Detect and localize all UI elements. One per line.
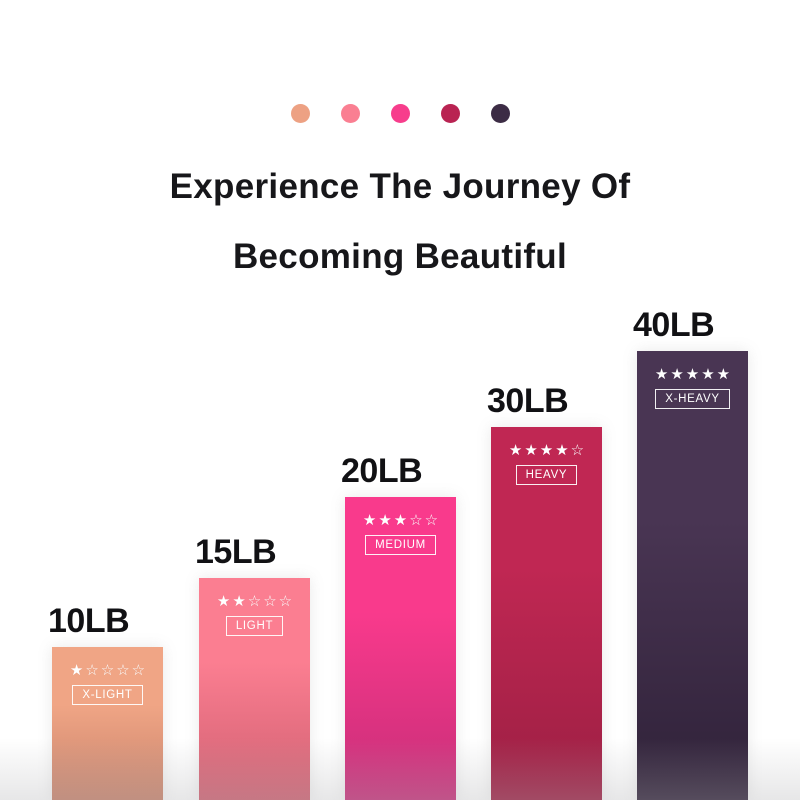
bar-40lb-strength-badge: X-HEAVY xyxy=(655,389,730,409)
bar-30lb-rating-stars: ★★★★☆ xyxy=(509,443,584,458)
star-filled-icon: ★ xyxy=(717,367,730,382)
star-empty-icon: ☆ xyxy=(248,594,261,609)
bar-10lb-strength-badge: X-LIGHT xyxy=(72,685,142,705)
bar-30lb-fill: ★★★★☆HEAVY xyxy=(491,427,602,800)
star-filled-icon: ★ xyxy=(540,443,553,458)
star-empty-icon: ☆ xyxy=(571,443,584,458)
bar-40lb[interactable]: 40LB★★★★★X-HEAVY xyxy=(637,351,748,800)
star-filled-icon: ★ xyxy=(232,594,245,609)
star-empty-icon: ☆ xyxy=(101,663,114,678)
bar-20lb-weight-label: 20LB xyxy=(341,452,422,497)
star-filled-icon: ★ xyxy=(394,513,407,528)
bar-30lb[interactable]: 30LB★★★★☆HEAVY xyxy=(491,427,602,800)
bar-40lb-weight-label: 40LB xyxy=(633,306,714,351)
bar-40lb-info: ★★★★★X-HEAVY xyxy=(637,367,748,409)
star-empty-icon: ☆ xyxy=(279,594,292,609)
star-filled-icon: ★ xyxy=(555,443,568,458)
star-filled-icon: ★ xyxy=(670,367,683,382)
star-empty-icon: ☆ xyxy=(116,663,129,678)
star-empty-icon: ☆ xyxy=(132,663,145,678)
star-empty-icon: ☆ xyxy=(85,663,98,678)
bar-30lb-weight-label: 30LB xyxy=(487,382,568,427)
bar-15lb-fill: ★★☆☆☆LIGHT xyxy=(199,578,310,800)
bar-20lb-info: ★★★☆☆MEDIUM xyxy=(345,513,456,555)
bar-20lb-strength-badge: MEDIUM xyxy=(365,535,436,555)
bar-10lb-fill: ★☆☆☆☆X-LIGHT xyxy=(52,647,163,800)
star-filled-icon: ★ xyxy=(363,513,376,528)
star-empty-icon: ☆ xyxy=(425,513,438,528)
star-filled-icon: ★ xyxy=(524,443,537,458)
star-filled-icon: ★ xyxy=(217,594,230,609)
star-filled-icon: ★ xyxy=(655,367,668,382)
bar-15lb-strength-badge: LIGHT xyxy=(226,616,283,636)
star-filled-icon: ★ xyxy=(686,367,699,382)
bar-15lb-info: ★★☆☆☆LIGHT xyxy=(199,594,310,636)
star-empty-icon: ☆ xyxy=(263,594,276,609)
star-filled-icon: ★ xyxy=(701,367,714,382)
bar-40lb-fill: ★★★★★X-HEAVY xyxy=(637,351,748,800)
star-filled-icon: ★ xyxy=(70,663,83,678)
star-filled-icon: ★ xyxy=(509,443,522,458)
bar-20lb-rating-stars: ★★★☆☆ xyxy=(363,513,438,528)
star-filled-icon: ★ xyxy=(378,513,391,528)
bar-10lb[interactable]: 10LB★☆☆☆☆X-LIGHT xyxy=(52,647,163,800)
bar-15lb[interactable]: 15LB★★☆☆☆LIGHT xyxy=(199,578,310,800)
bar-20lb-fill: ★★★☆☆MEDIUM xyxy=(345,497,456,800)
bar-15lb-weight-label: 15LB xyxy=(195,533,276,578)
promo-banner: Experience The Journey Of Becoming Beaut… xyxy=(0,0,800,800)
bar-20lb[interactable]: 20LB★★★☆☆MEDIUM xyxy=(345,497,456,800)
star-empty-icon: ☆ xyxy=(409,513,422,528)
resistance-band-bar-chart: 10LB★☆☆☆☆X-LIGHT15LB★★☆☆☆LIGHT20LB★★★☆☆M… xyxy=(0,0,800,800)
bar-10lb-rating-stars: ★☆☆☆☆ xyxy=(70,663,145,678)
bar-30lb-strength-badge: HEAVY xyxy=(516,465,578,485)
bar-40lb-rating-stars: ★★★★★ xyxy=(655,367,730,382)
bar-30lb-info: ★★★★☆HEAVY xyxy=(491,443,602,485)
bar-10lb-info: ★☆☆☆☆X-LIGHT xyxy=(52,663,163,705)
bar-10lb-weight-label: 10LB xyxy=(48,602,129,647)
bar-15lb-rating-stars: ★★☆☆☆ xyxy=(217,594,292,609)
